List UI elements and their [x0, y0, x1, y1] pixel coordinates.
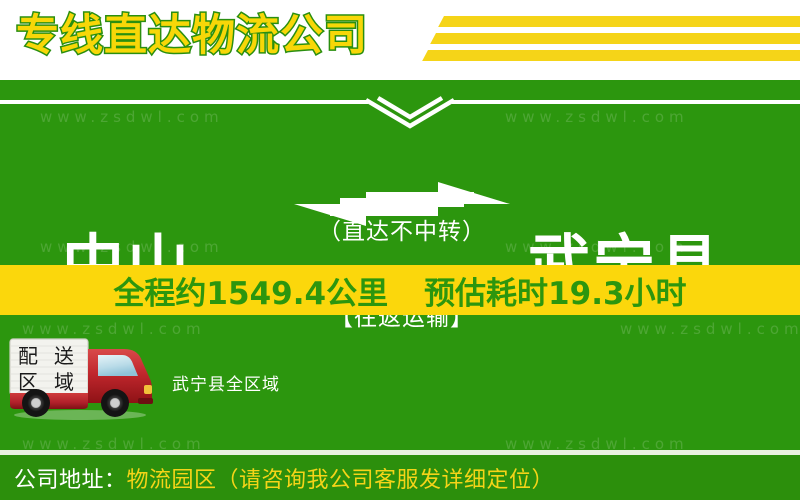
- banner-body: www.zsdwl.com www.zsdwl.com www.zsdwl.co…: [0, 80, 800, 450]
- double-arrow-icon: [288, 180, 516, 228]
- metrics-band: 全程约1549.4公里 预估耗时19.3小时: [0, 265, 800, 315]
- top-rule-right: [452, 100, 800, 104]
- chevron-down-icon: [360, 96, 460, 130]
- truck-box-char-1: 配: [18, 344, 38, 368]
- watermark: www.zsdwl.com: [22, 435, 206, 450]
- watermark: www.zsdwl.com: [40, 108, 224, 126]
- delivery-truck-icon: 配 送 区 域: [6, 335, 158, 421]
- truck-box-char-4: 域: [54, 370, 74, 394]
- address-label: 公司地址：: [14, 462, 127, 494]
- stripe-1: [438, 16, 800, 27]
- top-rule-left: [0, 100, 368, 104]
- page-title: 专线直达物流公司: [16, 6, 368, 66]
- watermark: www.zsdwl.com: [620, 320, 800, 338]
- logistics-banner: 专线直达物流公司 www.zsdwl.com www.zsdwl.com www…: [0, 0, 800, 500]
- duration-value: 预估耗时19.3小时: [424, 268, 687, 313]
- truck-box-char-2: 送: [54, 344, 74, 368]
- watermark: www.zsdwl.com: [505, 435, 689, 450]
- watermark: www.zsdwl.com: [505, 108, 689, 126]
- decorative-stripes: [420, 16, 800, 68]
- address-value: 物流园区（请咨询我公司客服发详细定位）: [127, 462, 555, 494]
- banner-header: 专线直达物流公司: [0, 0, 800, 80]
- distance-value: 全程约1549.4公里: [113, 268, 388, 313]
- stripe-3: [422, 50, 800, 61]
- coverage-area: 武宁县全区域: [172, 370, 280, 395]
- banner-footer: 公司地址： 物流园区（请咨询我公司客服发详细定位）: [0, 455, 800, 500]
- stripe-2: [430, 33, 800, 44]
